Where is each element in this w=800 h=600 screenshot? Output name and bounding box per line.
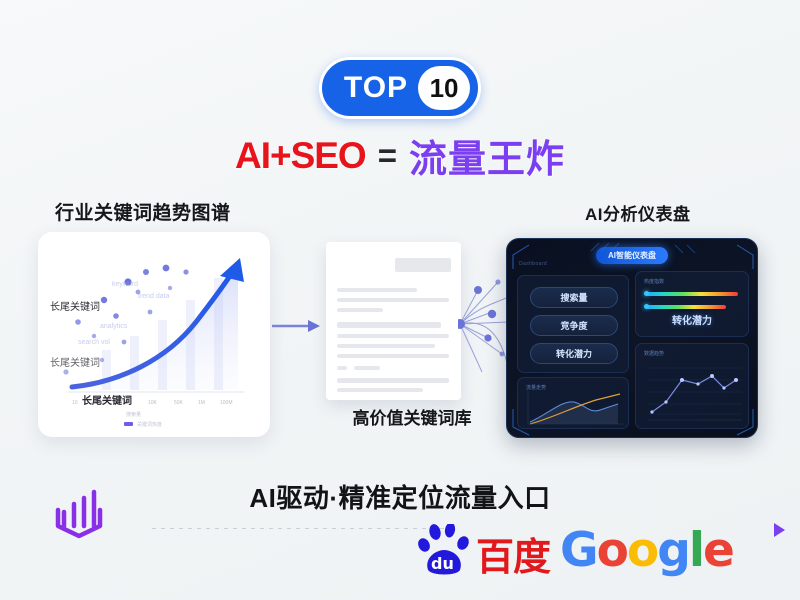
document-header-block (395, 258, 451, 272)
google-logo: Google (560, 527, 733, 574)
keyword-trend-chart: keyword trend data analytics search vol … (38, 232, 270, 437)
svg-text:10: 10 (72, 400, 78, 406)
svg-text:100M: 100M (220, 400, 233, 406)
dashboard-pill-conversion[interactable]: 转化潜力 (530, 343, 618, 364)
google-letter-g2: g (657, 523, 689, 578)
google-letter-e: e (703, 523, 733, 578)
keyword-library-document (326, 242, 461, 400)
dashboard-pill-competition[interactable]: 竞争度 (530, 315, 618, 336)
left-chart-label-2: 长尾关键词 (50, 354, 100, 369)
flow-arrow-icon (272, 318, 320, 334)
svg-text:analytics: analytics (100, 323, 128, 330)
search-engine-logos: du 百度 Google (418, 524, 733, 576)
google-letter-l: l (689, 523, 703, 578)
google-letter-g1: G (560, 523, 597, 578)
title-right-text: 流量王炸 (409, 128, 565, 183)
svg-text:10K: 10K (148, 400, 158, 406)
right-section-caption: AI分析仪表盘 (585, 200, 691, 225)
title-equals-sign: = (378, 137, 397, 175)
top-badge: TOP 10 (319, 57, 481, 119)
baidu-paw-icon: du (418, 524, 474, 576)
svg-text:keyword: keyword (112, 281, 138, 288)
title-left-text: AI+SEO (235, 135, 366, 177)
google-letter-o2: o (627, 523, 657, 578)
bar-chart-icon (48, 480, 110, 542)
baidu-latin-text: du (431, 554, 454, 573)
page-title: AI+SEO = 流量王炸 (0, 128, 800, 183)
dashboard-gauge-panel: 热度指数 转化潜力 (635, 271, 749, 337)
left-chart-label-1: 长尾关键词 (50, 298, 100, 313)
left-chart-axis-label: 搜索量 (126, 411, 141, 418)
top-badge-container: TOP 10 (0, 57, 800, 119)
line-panel-title: 数据趋势 (644, 350, 664, 357)
middle-section-caption: 高价值关键词库 (327, 404, 497, 429)
svg-text:1M: 1M (198, 400, 205, 406)
baidu-chinese-text: 百度 (476, 540, 550, 576)
svg-text:关键词热度: 关键词热度 (137, 421, 162, 428)
keyword-trend-card: keyword trend data analytics search vol … (38, 232, 270, 437)
google-letter-o1: o (597, 523, 627, 578)
play-triangle-icon (774, 523, 785, 537)
ai-dashboard-panel: AI智能仪表盘 Dashboard 搜索量 竞争度 转化潜力 热度指数 转化潜力… (506, 238, 758, 438)
gauge-overlay-label: 转化潜力 (636, 312, 748, 327)
left-section-caption: 行业关键词趋势图谱 (55, 198, 231, 225)
dashboard-area-chart-panel: 流量走势 (517, 377, 629, 429)
gauge-panel-title: 热度指数 (644, 278, 664, 285)
area-panel-title: 流量走势 (526, 384, 546, 391)
svg-text:50K: 50K (174, 400, 184, 406)
svg-text:search vol: search vol (78, 339, 110, 346)
bottom-tagline: AI驱动·精准定位流量入口 (0, 478, 800, 515)
dashboard-pill-search-volume[interactable]: 搜索量 (530, 287, 618, 308)
left-chart-label-3: 长尾关键词 (82, 392, 132, 407)
dashboard-metrics-panel: 搜索量 竞争度 转化潜力 (517, 275, 629, 373)
top-badge-label: TOP (344, 73, 412, 103)
baidu-logo: du 百度 (418, 524, 550, 576)
dashboard-line-chart-panel: 数据趋势 (635, 343, 749, 429)
svg-text:trend data: trend data (138, 293, 170, 300)
decorative-dashed-line (152, 528, 452, 529)
top-badge-number: 10 (418, 66, 470, 110)
